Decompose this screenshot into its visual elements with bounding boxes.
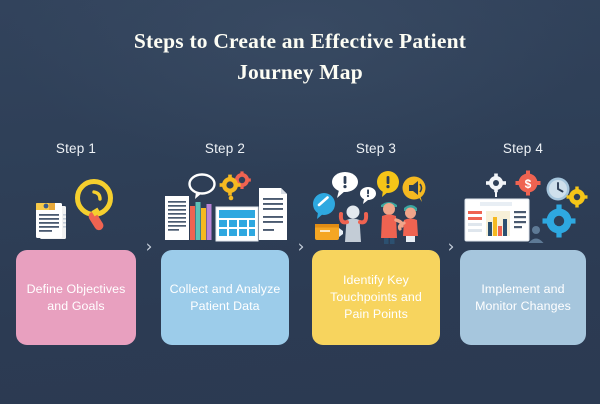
- chevron-right-icon-1: ›: [142, 236, 156, 258]
- dashboard-chart-icon: [464, 198, 530, 244]
- step-card-4-line-2: Monitor Changes: [475, 298, 571, 315]
- icon-group-step-3: [312, 170, 440, 248]
- step-card-1-line-1: Define Objectives: [27, 281, 126, 298]
- step-card-3-label: Identify Key Touchpoints and Pain Points: [330, 272, 422, 323]
- step-card-4[interactable]: Implement and Monitor Changes: [460, 250, 586, 345]
- gears-icon: [217, 171, 253, 203]
- page-title-line-1: Steps to Create an Effective Patient: [0, 26, 600, 57]
- chevron-right-icon-2: ›: [294, 236, 308, 258]
- data-table-icon: [215, 206, 259, 244]
- people-pair-icon: [372, 194, 426, 246]
- gear-white-icon: [484, 172, 508, 200]
- step-label-3: Step 3: [312, 141, 440, 156]
- step-card-3-line-3: Pain Points: [330, 306, 422, 323]
- step-card-3[interactable]: Identify Key Touchpoints and Pain Points: [312, 250, 440, 345]
- document-icon: [163, 194, 191, 242]
- step-card-2[interactable]: Collect and Analyze Patient Data: [161, 250, 289, 345]
- check-bubble-icon: [312, 192, 338, 220]
- person-raising-hand-icon: [338, 200, 370, 246]
- infographic-canvas: Steps to Create an Effective Patient Jou…: [0, 0, 600, 404]
- step-card-4-line-1: Implement and: [475, 281, 571, 298]
- chevron-right-icon-3: ›: [444, 236, 458, 258]
- step-card-1-line-2: and Goals: [27, 298, 126, 315]
- color-books-icon: [189, 200, 215, 242]
- speech-bubble-icon: [187, 172, 217, 200]
- icon-group-step-2: [161, 170, 289, 248]
- icon-group-step-1: [16, 170, 136, 248]
- dollar-gear-icon: $: [515, 170, 541, 196]
- step-card-2-line-1: Collect and Analyze: [170, 281, 281, 298]
- step-card-2-line-2: Patient Data: [170, 298, 281, 315]
- gear-blue-icon: [542, 204, 576, 238]
- step-card-3-line-1: Identify Key: [330, 272, 422, 289]
- step-card-1-label: Define Objectives and Goals: [27, 281, 126, 315]
- step-label-4: Step 4: [460, 141, 586, 156]
- page-title-line-2: Journey Map: [0, 57, 600, 88]
- icon-group-step-4: $: [460, 170, 586, 248]
- step-label-1: Step 1: [16, 141, 136, 156]
- page-title: Steps to Create an Effective Patient Jou…: [0, 26, 600, 88]
- user-icon: [526, 224, 546, 244]
- step-card-1[interactable]: Define Objectives and Goals: [16, 250, 136, 345]
- document-page-icon: [257, 186, 289, 242]
- svg-text:$: $: [525, 177, 532, 191]
- step-label-2: Step 2: [161, 141, 289, 156]
- documents-stack-icon: [24, 196, 72, 242]
- step-card-2-label: Collect and Analyze Patient Data: [170, 281, 281, 315]
- step-card-4-label: Implement and Monitor Changes: [475, 281, 571, 315]
- magnifying-glass-icon: [68, 176, 120, 236]
- step-card-3-line-2: Touchpoints and: [330, 289, 422, 306]
